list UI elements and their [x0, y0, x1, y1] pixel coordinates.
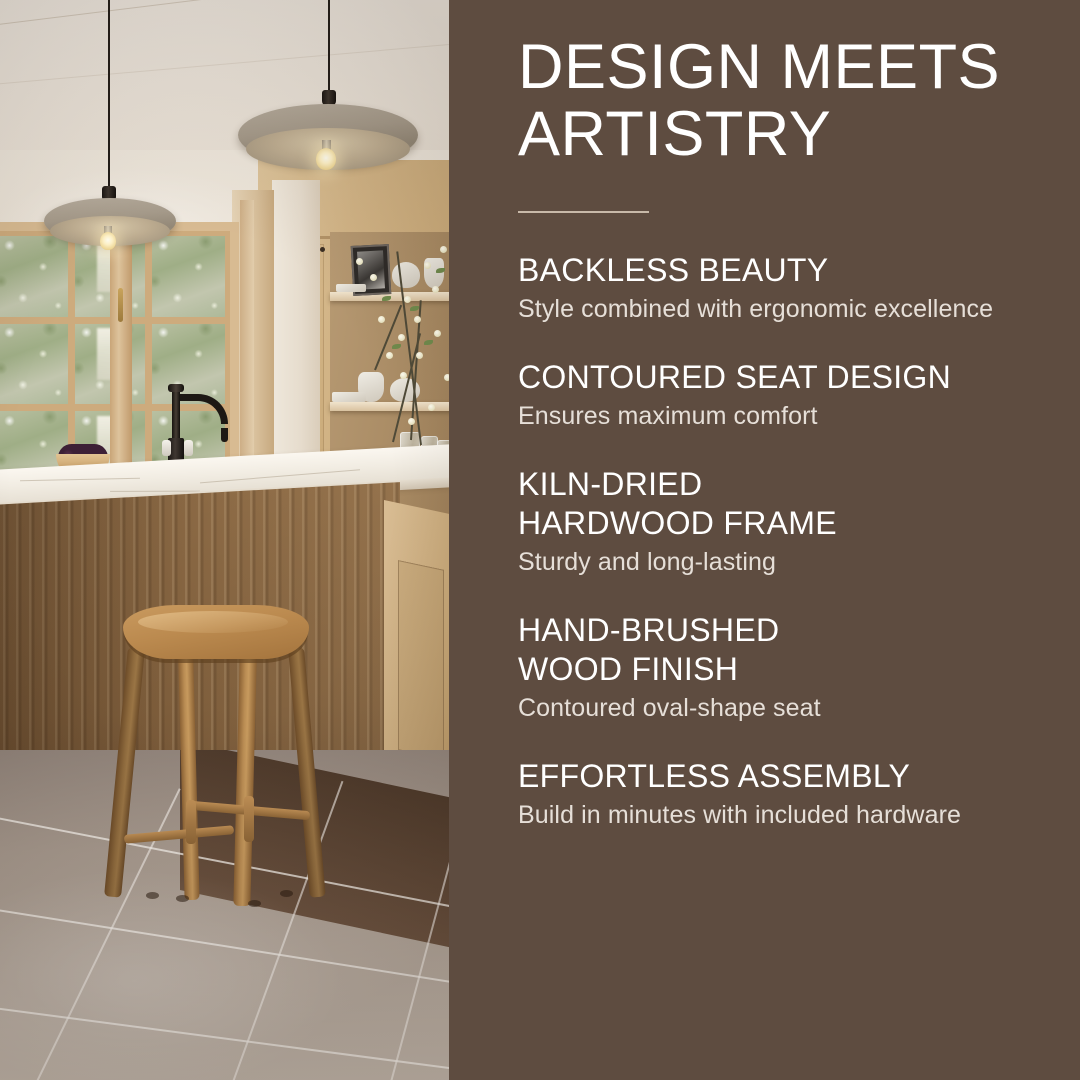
stacked-books: [336, 284, 366, 292]
island-side-inset: [398, 560, 444, 760]
feature-item-contoured-seat-design: CONTOURED SEAT DESIGN Ensures maximum co…: [518, 358, 1066, 432]
stacked-books: [332, 392, 366, 402]
faucet-handle: [162, 440, 171, 456]
pendant-cord: [328, 0, 330, 92]
faucet-column: [172, 392, 180, 444]
kitchen-scene-photo: [0, 0, 449, 1080]
tile-floor: [0, 750, 449, 1080]
feature-item-effortless-assembly: EFFORTLESS ASSEMBLY Build in minutes wit…: [518, 757, 1066, 831]
stool-foot: [248, 900, 261, 907]
feature-title: HAND-BRUSHED WOOD FINISH: [518, 611, 1066, 689]
feature-item-backless-beauty: BACKLESS BEAUTY Style combined with ergo…: [518, 251, 1066, 325]
ceramic-vessel: [392, 262, 420, 288]
feature-title: BACKLESS BEAUTY: [518, 251, 1066, 290]
stool-foot: [176, 895, 189, 902]
stool-stretcher: [244, 796, 254, 842]
blossom: [356, 258, 363, 265]
stool-foot: [280, 890, 293, 897]
product-feature-infographic: DESIGN MEETS ARTISTRY BACKLESS BEAUTY St…: [0, 0, 1080, 1080]
blossom: [432, 286, 439, 293]
faucet-handle: [184, 440, 193, 456]
feature-description: Sturdy and long-lasting: [518, 546, 1066, 578]
feature-list: BACKLESS BEAUTY Style combined with ergo…: [518, 251, 1066, 831]
pendant-cord: [108, 0, 110, 188]
stool-foot: [146, 892, 159, 899]
light-bulb: [316, 148, 336, 170]
feature-text-panel: DESIGN MEETS ARTISTRY BACKLESS BEAUTY St…: [449, 0, 1080, 1080]
blossom: [408, 418, 415, 425]
feature-title: EFFORTLESS ASSEMBLY: [518, 757, 1066, 796]
floor-sheen: [0, 750, 449, 1080]
window-pane: [152, 324, 225, 405]
stool-stretcher: [186, 800, 196, 844]
feature-description: Style combined with ergonomic excellence: [518, 293, 1066, 325]
blossom: [370, 274, 377, 281]
feature-item-hand-brushed-wood-finish: HAND-BRUSHED WOOD FINISH Contoured oval-…: [518, 611, 1066, 724]
blossom: [416, 352, 423, 359]
feature-description: Contoured oval-shape seat: [518, 692, 1066, 724]
blossom: [398, 334, 405, 341]
feature-title: KILN-DRIED HARDWOOD FRAME: [518, 465, 1066, 543]
blossom: [434, 330, 441, 337]
blossom: [428, 404, 435, 411]
blossom: [414, 316, 421, 323]
blossom: [404, 296, 411, 303]
window-pane: [152, 236, 225, 317]
cabinet-knob: [320, 247, 325, 252]
blossom: [440, 246, 447, 253]
window-pane: [0, 236, 68, 317]
feature-description: Ensures maximum comfort: [518, 400, 1066, 432]
blossom: [424, 262, 431, 269]
ceiling-seam: [0, 0, 449, 37]
light-bulb: [100, 232, 116, 250]
stool-seat-highlight: [138, 611, 288, 633]
ceiling-seam: [0, 38, 449, 93]
feature-title: CONTOURED SEAT DESIGN: [518, 358, 1066, 397]
blossom: [400, 372, 407, 379]
blossom: [378, 316, 385, 323]
window-pane: [0, 324, 68, 405]
page-title: DESIGN MEETS ARTISTRY: [518, 34, 1063, 168]
feature-description: Build in minutes with included hardware: [518, 799, 1066, 831]
title-divider: [518, 211, 649, 213]
feature-item-kiln-dried-hardwood-frame: KILN-DRIED HARDWOOD FRAME Sturdy and lon…: [518, 465, 1066, 578]
marble-vein: [20, 478, 140, 482]
blossom: [386, 352, 393, 359]
faucet-cap: [168, 384, 184, 392]
marble-vein: [200, 469, 360, 483]
door-handle: [118, 288, 123, 322]
